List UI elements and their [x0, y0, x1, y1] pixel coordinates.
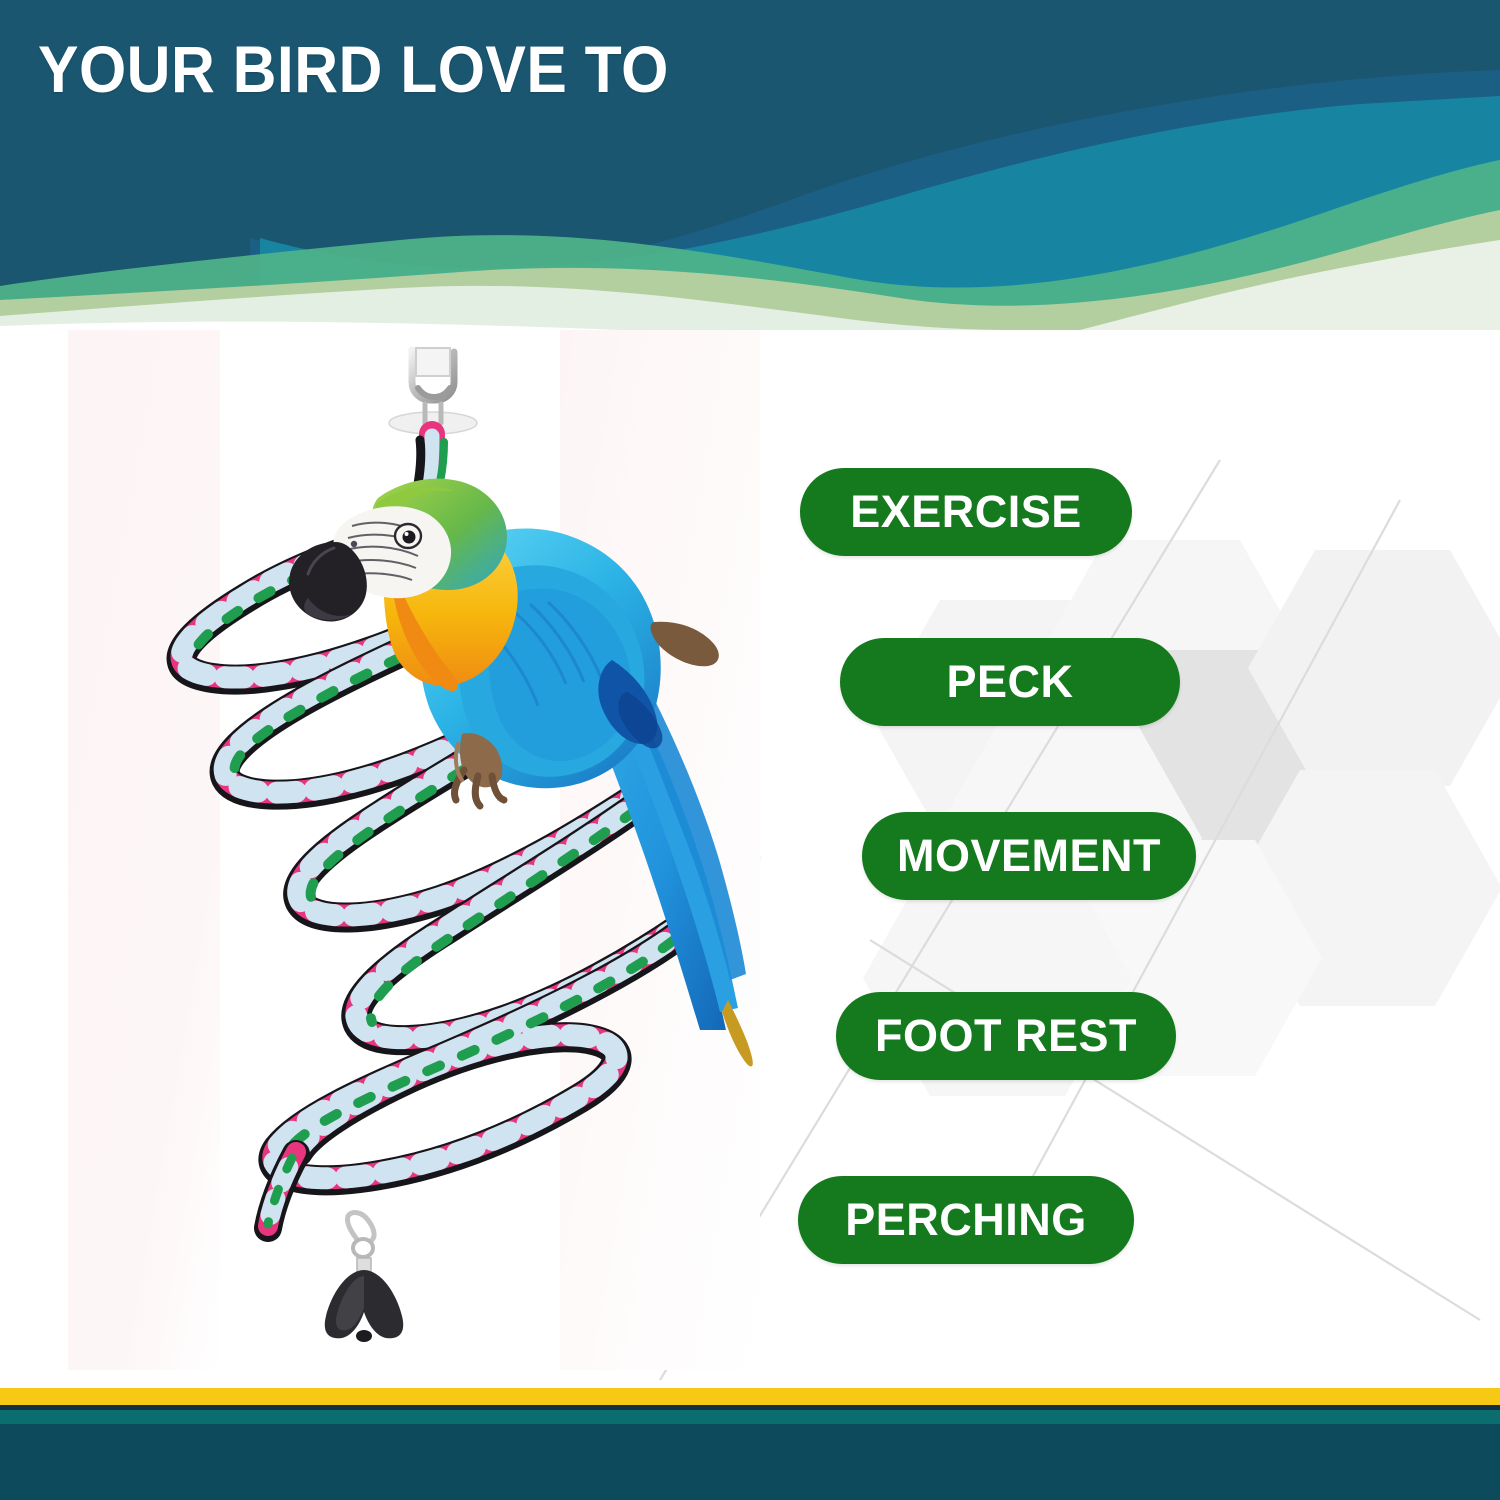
page-title: YOUR BIRD LOVE TO — [38, 36, 669, 102]
rope-coil-top — [418, 434, 444, 486]
band-gold — [0, 1388, 1500, 1405]
benefit-pill-movement[interactable]: MOVEMENT — [862, 812, 1196, 900]
rope-strand — [429, 436, 432, 482]
product-photo — [60, 330, 760, 1370]
infographic-canvas: YOUR BIRD LOVE TO — [0, 0, 1500, 1500]
pupil — [403, 531, 416, 544]
nostril — [351, 541, 357, 547]
carabiner-loop — [418, 388, 450, 397]
tail-tip — [722, 1000, 753, 1067]
band-teal — [0, 1410, 1500, 1424]
bird-on-rope-perch-illustration — [60, 330, 760, 1370]
benefits-list: EXERCISE PECK MOVEMENT FOOT REST PERCHIN… — [780, 440, 1480, 1360]
benefit-label: FOOT REST — [875, 1010, 1137, 1062]
benefit-pill-perching[interactable]: PERCHING — [798, 1176, 1134, 1264]
wing-brown-patch — [651, 622, 719, 667]
rope-coil-5 — [273, 932, 680, 1180]
bottom-bell-hardware — [325, 1213, 403, 1342]
bottom-bands — [0, 1380, 1500, 1500]
benefit-pill-peck[interactable]: PECK — [840, 638, 1180, 726]
benefit-pill-foot-rest[interactable]: FOOT REST — [836, 992, 1176, 1080]
benefit-label: PECK — [946, 656, 1073, 708]
eye-highlight — [405, 532, 409, 536]
band-dark-teal — [0, 1424, 1500, 1500]
bell-ring-icon — [353, 1239, 373, 1257]
benefit-label: PERCHING — [845, 1194, 1087, 1246]
carabiner-gate — [416, 348, 450, 376]
bell-hanger-wire — [347, 1213, 374, 1240]
rope-strand — [418, 440, 421, 484]
header-banner: YOUR BIRD LOVE TO — [0, 0, 1500, 330]
benefit-label: MOVEMENT — [897, 830, 1161, 882]
rope-strand — [440, 442, 444, 482]
benefit-label: EXERCISE — [850, 486, 1082, 538]
rope-strand-white — [273, 932, 680, 1178]
benefit-pill-exercise[interactable]: EXERCISE — [800, 468, 1132, 556]
bell-clapper — [356, 1330, 372, 1342]
